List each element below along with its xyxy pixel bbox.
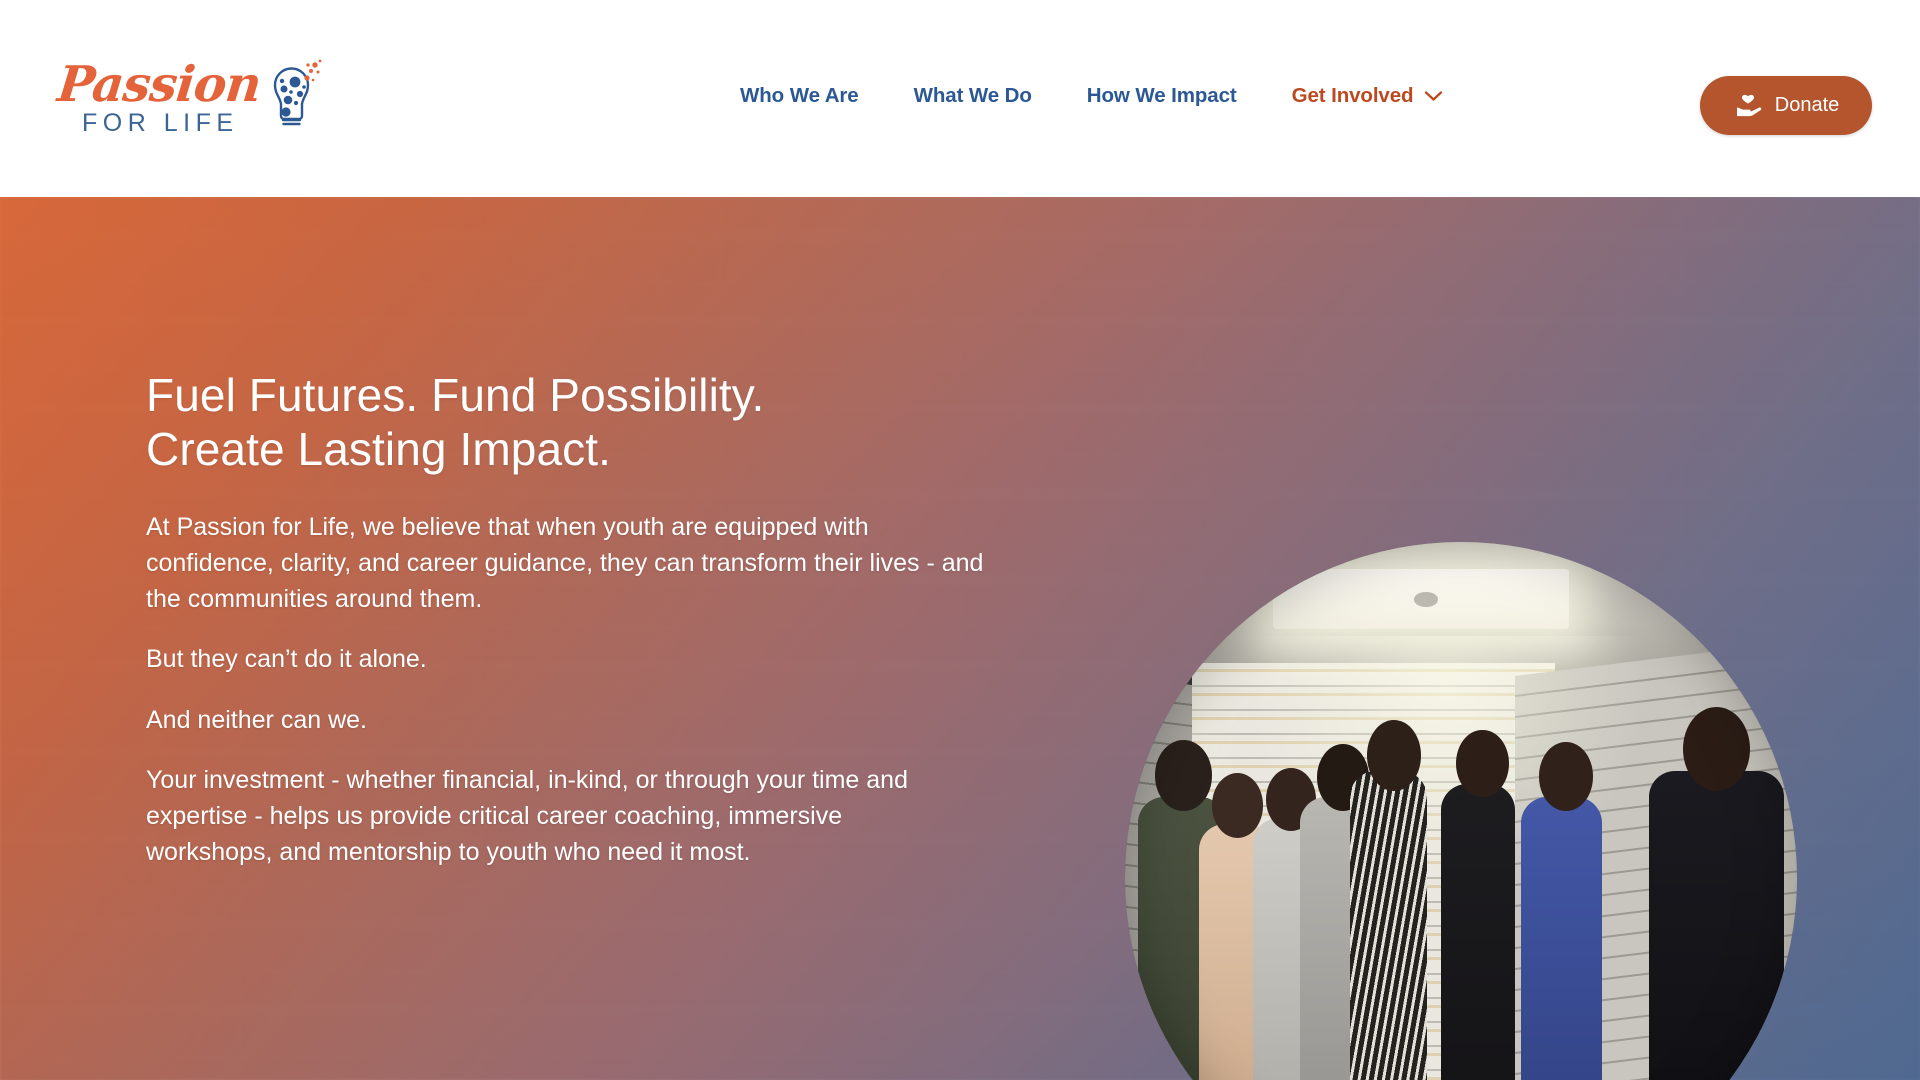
logo-wordmark: Passion FOR LIFE [58, 60, 260, 136]
lightbulb-icon [262, 56, 324, 134]
nav-item-what-we-do[interactable]: What We Do [914, 84, 1032, 108]
person-silhouette [1441, 784, 1515, 1080]
hero-title-line-2: Create Lasting Impact. [146, 423, 1006, 477]
person-silhouette [1521, 797, 1602, 1080]
ceiling-dome-light [1226, 586, 1261, 614]
donate-button-label: Donate [1775, 94, 1840, 117]
person-head [1212, 773, 1263, 838]
person-head [1456, 730, 1508, 797]
hero-circular-photo [1125, 542, 1797, 1080]
hero-title: Fuel Futures. Fund Possibility. Create L… [146, 369, 1006, 477]
nav-item-get-involved[interactable]: Get Involved [1292, 84, 1444, 108]
chevron-down-icon [1424, 84, 1443, 108]
vault-scene [1125, 542, 1797, 1080]
hand-holding-heart-icon [1733, 91, 1763, 120]
speaker-silhouette [1649, 771, 1783, 1080]
hero-paragraph-3: And neither can we. [146, 702, 986, 738]
person-silhouette [1350, 771, 1427, 1080]
hero-paragraph-1: At Passion for Life, we believe that whe… [146, 509, 986, 618]
donate-button[interactable]: Donate [1700, 76, 1872, 135]
logo-word-for-life: FOR LIFE [82, 111, 260, 136]
person-head [1539, 742, 1593, 811]
nav-item-get-involved-label: Get Involved [1292, 84, 1414, 108]
hero-title-line-1: Fuel Futures. Fund Possibility. [146, 369, 1006, 423]
logo-passion-for-life[interactable]: Passion FOR LIFE [58, 56, 324, 136]
hero-paragraph-4: Your investment - whether financial, in-… [146, 762, 966, 871]
nav-item-who-we-are[interactable]: Who We Are [740, 84, 859, 108]
main-navigation: Who We Are What We Do How We Impact Get … [740, 84, 1443, 108]
hero-copy: Fuel Futures. Fund Possibility. Create L… [146, 369, 1006, 895]
nav-item-how-we-impact[interactable]: How We Impact [1087, 84, 1237, 108]
logo-word-passion: Passion [55, 60, 263, 109]
hero-section: Fuel Futures. Fund Possibility. Create L… [0, 197, 1920, 1080]
person-head [1155, 740, 1212, 811]
speaker-head [1683, 707, 1750, 791]
site-header: Passion FOR LIFE [0, 0, 1920, 197]
hero-paragraph-2: But they can’t do it alone. [146, 641, 986, 677]
person-head [1367, 720, 1421, 791]
